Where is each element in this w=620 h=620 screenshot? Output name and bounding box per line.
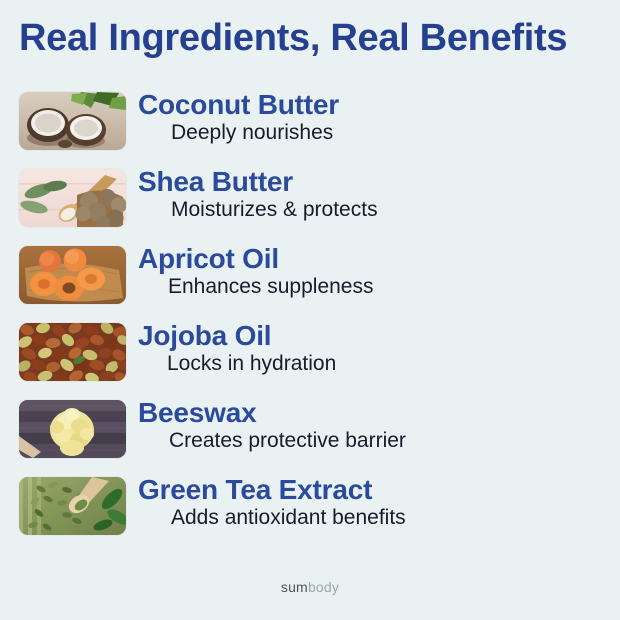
ingredient-benefit: Enhances suppleness: [138, 274, 620, 300]
brand-logo-primary: sum: [281, 579, 308, 595]
ingredient-benefit: Moisturizes & protects: [138, 197, 620, 223]
ingredient-name: Shea Butter: [138, 165, 620, 198]
ingredient-benefit: Adds antioxidant benefits: [138, 505, 620, 531]
list-item: Coconut Butter Deeply nourishes: [0, 88, 620, 165]
ingredient-text-block: Beeswax Creates protective barrier: [126, 396, 620, 454]
ingredient-name: Coconut Butter: [138, 88, 620, 121]
ingredient-text-block: Jojoba Oil Locks in hydration: [126, 319, 620, 377]
beeswax-thumbnail: [19, 400, 126, 458]
list-item: Beeswax Creates protective barrier: [0, 396, 620, 473]
ingredient-text-block: Green Tea Extract Adds antioxidant benef…: [126, 473, 620, 531]
ingredient-text-block: Apricot Oil Enhances suppleness: [126, 242, 620, 300]
brand-logo: sumbody: [0, 578, 620, 596]
ingredient-text-block: Coconut Butter Deeply nourishes: [126, 88, 620, 146]
green-tea-extract-thumbnail: [19, 477, 126, 535]
coconut-butter-thumbnail: [19, 92, 126, 150]
brand-logo-secondary: body: [308, 579, 339, 595]
list-item: Green Tea Extract Adds antioxidant benef…: [0, 473, 620, 550]
shea-butter-thumbnail: [19, 169, 126, 227]
jojoba-oil-thumbnail: [19, 323, 126, 381]
ingredient-name: Jojoba Oil: [138, 319, 620, 352]
ingredient-benefit: Creates protective barrier: [138, 428, 620, 454]
list-item: Jojoba Oil Locks in hydration: [0, 319, 620, 396]
ingredient-text-block: Shea Butter Moisturizes & protects: [126, 165, 620, 223]
ingredient-list: Coconut Butter Deeply nourishes: [0, 88, 620, 550]
ingredients-poster: Real Ingredients, Real Benefits: [0, 0, 620, 620]
ingredient-name: Apricot Oil: [138, 242, 620, 275]
list-item: Apricot Oil Enhances suppleness: [0, 242, 620, 319]
apricot-oil-thumbnail: [19, 246, 126, 304]
ingredient-name: Beeswax: [138, 396, 620, 429]
ingredient-name: Green Tea Extract: [138, 473, 620, 506]
list-item: Shea Butter Moisturizes & protects: [0, 165, 620, 242]
ingredient-benefit: Deeply nourishes: [138, 120, 620, 146]
ingredient-benefit: Locks in hydration: [138, 351, 620, 377]
page-title: Real Ingredients, Real Benefits: [19, 15, 613, 61]
